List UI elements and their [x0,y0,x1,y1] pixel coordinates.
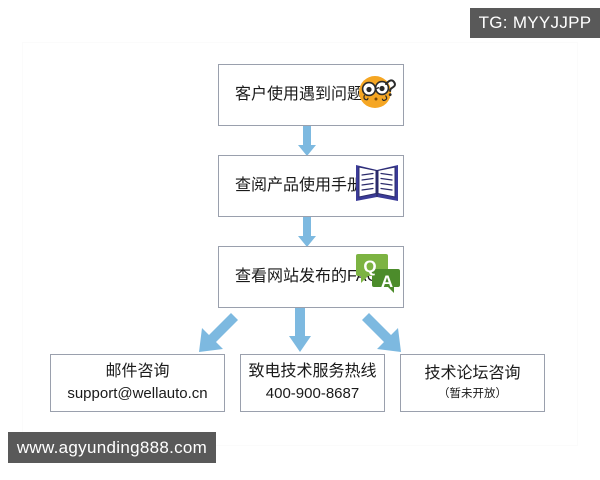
arrow-branch-group [150,306,450,356]
flow-box-manual-label: 查阅产品使用手册 [235,176,363,196]
site-watermark: www.agyunding888.com [8,432,216,463]
flow-box-forum-note: （暂未开放） [438,387,507,402]
flow-box-forum[interactable]: 技术论坛咨询 （暂未开放） [400,354,545,412]
flow-box-email[interactable]: 邮件咨询 support@wellauto.cn [50,354,225,412]
open-book-icon [353,157,401,207]
flow-box-forum-label: 技术论坛咨询 [424,364,520,384]
arrow-problem-to-manual [296,126,318,156]
qa-speech-bubbles-icon: Q A [356,250,402,296]
arrow-faq-to-email [199,310,238,352]
flow-box-email-label: 邮件咨询 [105,362,169,382]
arrow-faq-to-forum [362,310,401,352]
faq-q-letter: Q [363,257,376,276]
flow-box-problem-label: 客户使用遇到问题 [235,85,363,105]
tg-watermark: TG: MYYJJPP [470,8,600,38]
flow-box-hotline[interactable]: 致电技术服务热线 400-900-8687 [240,354,385,412]
flow-box-email-address: support@wellauto.cn [67,384,207,404]
flow-box-hotline-label: 致电技术服务热线 [248,362,376,382]
arrow-manual-to-faq [296,217,318,247]
flow-box-hotline-number: 400-900-8687 [266,384,359,404]
confused-face-icon [355,68,400,113]
faq-a-letter: A [381,272,393,291]
arrow-faq-to-hotline [289,306,311,352]
